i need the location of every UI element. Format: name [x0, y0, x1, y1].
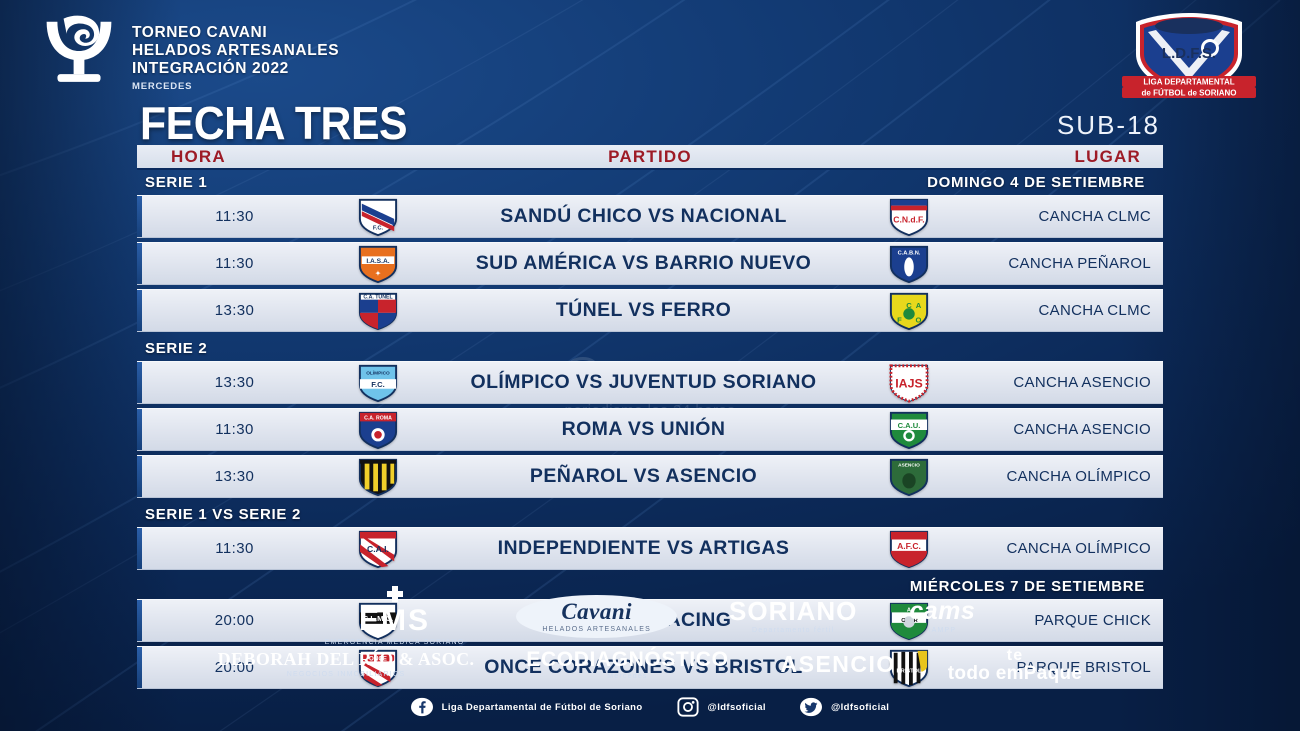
match-teams: SUD AMÉRICA VS BARRIO NUEVO — [424, 252, 863, 275]
table-row[interactable]: 13:30OLÍMPICOF.C.OLÍMPICO VS JUVENTUD SO… — [137, 361, 1163, 404]
match-time: 11:30 — [137, 540, 332, 557]
svg-text:IAJS: IAJS — [895, 376, 923, 390]
away-team-crest: C.A.B.N. — [863, 244, 955, 284]
sponsor-ems: EMS EMERGENCIA MÉDICA SORIANO — [325, 586, 465, 646]
table-row[interactable]: 11:30C.A.I.INDEPENDIENTE VS ARTIGASA.F.C… — [137, 527, 1163, 570]
away-team-crest: C.A.U. — [863, 410, 955, 450]
social-instagram[interactable]: @ldfsoficial — [677, 696, 766, 718]
sponsor-deborah-del-rio: DEBORAH DEL RÍO & ASOC. NEGOCIOS INMOBIL… — [218, 650, 475, 678]
instagram-icon — [677, 696, 699, 718]
match-venue: CANCHA CLMC — [955, 208, 1163, 225]
page-title: FECHA TRES — [140, 100, 407, 146]
social-twitter-handle: @ldfsoficial — [831, 702, 889, 713]
column-header-lugar: LUGAR — [1075, 147, 1141, 167]
home-team-crest: C.A. TÚNEL — [332, 291, 424, 331]
tournament-line-2: HELADOS ARTESANALES — [132, 42, 339, 60]
svg-text:C.A.U.: C.A.U. — [898, 421, 921, 430]
table-row[interactable]: 11:30I.A.S.A.✦SUD AMÉRICA VS BARRIO NUEV… — [137, 242, 1163, 285]
svg-text:O: O — [916, 315, 922, 324]
svg-text:F.C.: F.C. — [371, 379, 385, 388]
juventud-soriano-crest-icon: IAJS — [886, 363, 932, 403]
away-team-crest: ASENCIO — [863, 457, 955, 497]
table-row[interactable]: 11:30F.C.SANDÚ CHICO VS NACIONALC.N.d.F.… — [137, 195, 1163, 238]
match-time: 11:30 — [137, 208, 332, 225]
sponsor-ecodiagnostico: ECODIAGNÓSTICO Mercedes — [526, 649, 728, 680]
home-team-crest: I.A.S.A.✦ — [332, 244, 424, 284]
section-label: SERIE 1 VS SERIE 2 — [145, 506, 301, 523]
roma-crest-icon: C.A. ROMA — [355, 410, 401, 450]
sponsor-te-mark: te — [948, 648, 1083, 664]
home-team-crest: C.A. ROMA — [332, 410, 424, 450]
home-team-crest: OLÍMPICOF.C. — [332, 363, 424, 403]
svg-text:ASENCIO: ASENCIO — [898, 462, 920, 468]
fixture-poster: TORNEO CAVANI HELADOS ARTESANALES INTEGR… — [0, 0, 1300, 731]
match-venue: CANCHA OLÍMPICO — [955, 540, 1163, 557]
match-venue: CANCHA ASENCIO — [955, 374, 1163, 391]
table-row[interactable]: 11:30C.A. ROMAROMA VS UNIÓNC.A.U.CANCHA … — [137, 408, 1163, 451]
home-team-crest — [332, 457, 424, 497]
svg-text:✦: ✦ — [375, 269, 381, 277]
sponsor-ems-tagline: EMERGENCIA MÉDICA SORIANO — [325, 639, 465, 646]
social-bar: Liga Departamental de Fútbol de Soriano … — [0, 692, 1300, 722]
match-teams: ROMA VS UNIÓN — [424, 418, 863, 441]
section-band: SERIE 1 VS SERIE 2 — [137, 502, 1163, 527]
sponsor-cams-name: cams — [909, 599, 975, 624]
sponsor-soriano-tagline: Departamento fértil — [729, 627, 857, 634]
tournament-line-3: INTEGRACIÓN 2022 — [132, 60, 339, 78]
tournament-city: MERCEDES — [132, 81, 339, 92]
independiente-crest-icon: C.A.I. — [355, 529, 401, 569]
social-twitter[interactable]: @ldfsoficial — [800, 696, 889, 718]
svg-text:C.N.d.F.: C.N.d.F. — [893, 214, 924, 224]
match-time: 13:30 — [137, 302, 332, 319]
sponsor-cavani-tagline: HELADOS ARTESANALES — [542, 626, 651, 633]
home-team-crest: C.A.I. — [332, 529, 424, 569]
sponsor-soriano-name: SORIANO — [729, 598, 857, 624]
tunel-crest-icon: C.A. TÚNEL — [355, 291, 401, 331]
match-time: 11:30 — [137, 421, 332, 438]
sponsor-deborah-name: DEBORAH DEL RÍO & ASOC. — [218, 650, 475, 668]
artigas-crest-icon: A.F.C. — [886, 529, 932, 569]
twitter-icon — [800, 696, 822, 718]
match-teams: INDEPENDIENTE VS ARTIGAS — [424, 537, 863, 560]
match-venue: CANCHA ASENCIO — [955, 421, 1163, 438]
match-teams: TÚNEL VS FERRO — [424, 299, 863, 322]
sponsor-eco-tagline: Mercedes — [526, 673, 728, 680]
section-label: SERIE 2 — [145, 340, 207, 357]
match-venue: CANCHA PEÑAROL — [955, 255, 1163, 272]
section-date: DOMINGO 4 DE SETIEMBRE — [927, 174, 1145, 191]
svg-text:F: F — [897, 315, 902, 324]
away-team-crest: A.F.C. — [863, 529, 955, 569]
match-time: 11:30 — [137, 255, 332, 272]
match-venue: CANCHA CLMC — [955, 302, 1163, 319]
olimpico-crest-icon: OLÍMPICOF.C. — [355, 363, 401, 403]
social-instagram-handle: @ldfsoficial — [708, 702, 766, 713]
away-team-crest: IAJS — [863, 363, 955, 403]
sud-america-crest-icon: I.A.S.A.✦ — [355, 244, 401, 284]
match-teams: OLÍMPICO VS JUVENTUD SORIANO — [424, 371, 863, 394]
svg-text:A: A — [916, 301, 922, 310]
trophy-icon — [40, 14, 118, 88]
away-team-crest: C.N.d.F. — [863, 197, 955, 237]
table-row[interactable]: 13:30C.A. TÚNELTÚNEL VS FERROCAFOCANCHA … — [137, 289, 1163, 332]
social-facebook[interactable]: Liga Departamental de Fútbol de Soriano — [411, 696, 643, 718]
svg-text:C.A.I.: C.A.I. — [367, 543, 389, 553]
facebook-icon — [411, 696, 433, 718]
section-band: SERIE 1DOMINGO 4 DE SETIEMBRE — [137, 170, 1163, 195]
match-teams: SANDÚ CHICO VS NACIONAL — [424, 205, 863, 228]
svg-text:C: C — [906, 301, 912, 310]
category-label: SUB-18 — [1057, 110, 1160, 141]
sponsor-eco-name: ECODIAGNÓSTICO — [526, 649, 728, 670]
table-row[interactable]: 13:30PEÑAROL VS ASENCIOASENCIOCANCHA OLÍ… — [137, 455, 1163, 498]
sponsor-asencio-name: ASENCIO — [781, 653, 896, 676]
sponsor-soriano: SORIANO Departamento fértil — [729, 598, 857, 634]
ferro-crest-icon: CAFO — [886, 291, 932, 331]
sandu-chico-crest-icon: F.C. — [355, 197, 401, 237]
social-facebook-handle: Liga Departamental de Fútbol de Soriano — [442, 702, 643, 713]
tournament-line-1: TORNEO CAVANI — [132, 24, 339, 42]
svg-text:C.A. ROMA: C.A. ROMA — [364, 415, 392, 421]
sponsor-cams: cams IAMPP — [909, 599, 975, 634]
svg-text:A.F.C.: A.F.C. — [897, 541, 921, 551]
column-header-partido: PARTIDO — [608, 147, 692, 167]
nacional-crest-icon: C.N.d.F. — [886, 197, 932, 237]
sponsor-cams-tagline: IAMPP — [909, 627, 975, 634]
sponsor-cavani: Cavani HELADOS ARTESANALES — [516, 595, 677, 638]
sponsor-strip: EMS EMERGENCIA MÉDICA SORIANO Cavani HEL… — [0, 592, 1300, 688]
column-header-hora: HORA — [171, 147, 226, 167]
sponsor-te-name: todo emPaque — [948, 664, 1083, 683]
match-teams: PEÑAROL VS ASENCIO — [424, 465, 863, 488]
ldfs-crest-icon: L.D.F.S. LIGA DEPARTAMENTAL de FÚTBOL de… — [1114, 10, 1264, 102]
table-column-headers: HORA PARTIDO LUGAR — [137, 145, 1163, 170]
crest-line-1: LIGA DEPARTAMENTAL — [1143, 78, 1234, 87]
away-team-crest: CAFO — [863, 291, 955, 331]
crest-line-2: de FÚTBOL de SORIANO — [1142, 89, 1237, 98]
sponsor-row-1: EMS EMERGENCIA MÉDICA SORIANO Cavani HEL… — [0, 592, 1300, 640]
tournament-header: TORNEO CAVANI HELADOS ARTESANALES INTEGR… — [40, 14, 339, 92]
svg-text:C.A.B.N.: C.A.B.N. — [898, 250, 921, 256]
match-time: 13:30 — [137, 374, 332, 391]
sponsor-cavani-name: Cavani — [542, 600, 651, 623]
union-crest-icon: C.A.U. — [886, 410, 932, 450]
asencio-crest-icon: ASENCIO — [886, 457, 932, 497]
sponsor-ems-name: EMS — [325, 606, 465, 636]
svg-text:C.A. TÚNEL: C.A. TÚNEL — [363, 293, 393, 300]
barrio-nuevo-crest-icon: C.A.B.N. — [886, 244, 932, 284]
match-time: 13:30 — [137, 468, 332, 485]
section-band: SERIE 2 — [137, 336, 1163, 361]
home-team-crest: F.C. — [332, 197, 424, 237]
penarol-crest-icon — [355, 457, 401, 497]
section-label: SERIE 1 — [145, 174, 207, 191]
svg-text:F.C.: F.C. — [373, 225, 384, 231]
medical-cross-icon — [382, 586, 408, 602]
match-venue: CANCHA OLÍMPICO — [955, 468, 1163, 485]
sponsor-todo-empaque: te todo emPaque — [948, 645, 1083, 683]
crest-initials: L.D.F.S. — [1162, 45, 1216, 62]
svg-text:I.A.S.A.: I.A.S.A. — [366, 258, 389, 265]
sponsor-row-2: DEBORAH DEL RÍO & ASOC. NEGOCIOS INMOBIL… — [0, 640, 1300, 688]
sponsor-asencio: ASENCIO — [781, 653, 896, 676]
sponsor-deborah-tagline: NEGOCIOS INMOBILIARIOS — [218, 671, 475, 678]
